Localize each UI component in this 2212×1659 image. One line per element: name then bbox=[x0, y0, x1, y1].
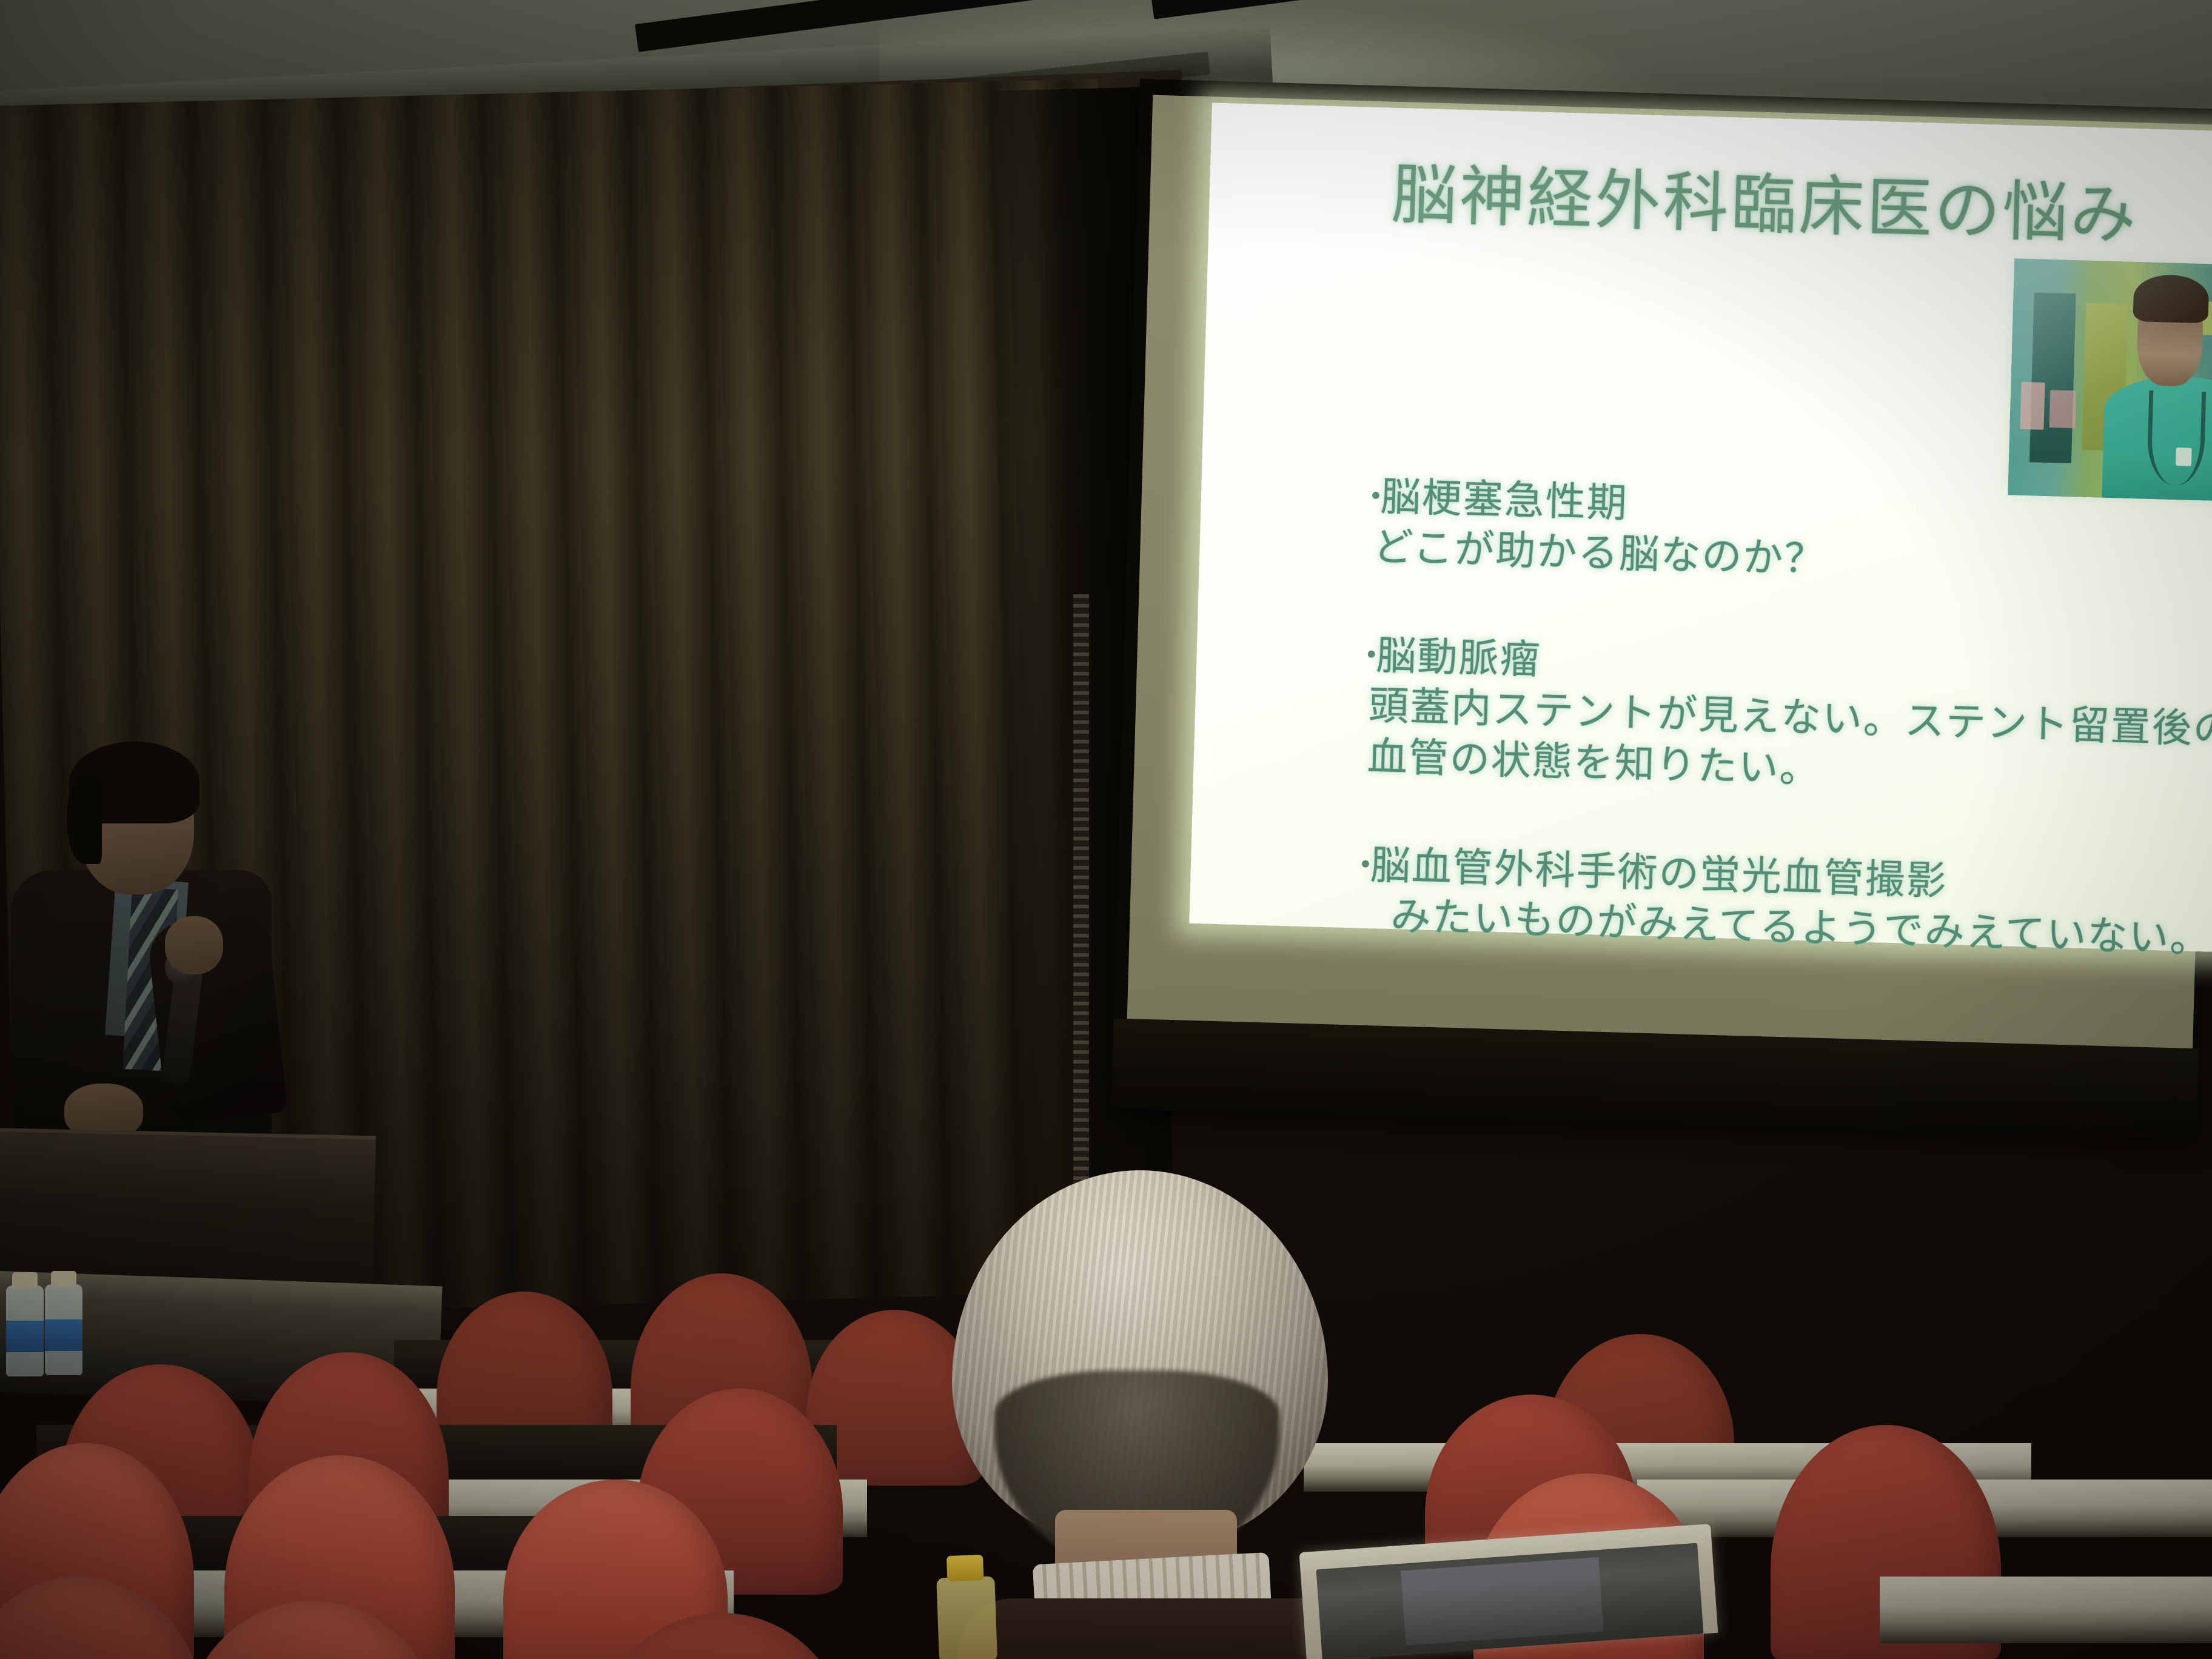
bullet-marker-icon: ・ bbox=[1354, 630, 1377, 673]
doctor-photo bbox=[2008, 258, 2212, 502]
projected-slide: 脳神経外科臨床医の悩み bbox=[1189, 102, 2212, 952]
bottle-cap bbox=[51, 1271, 76, 1287]
slide-bullet-item: ・ 脳血管外科手術の蛍光血管撮影 みたいものがみえてるようでみえていない。 bbox=[1346, 839, 2197, 964]
bullet-marker-icon: ・ bbox=[1358, 471, 1381, 514]
presenter-hair-side bbox=[67, 773, 102, 864]
curtain-track bbox=[1073, 594, 1089, 1249]
photo-glare bbox=[2008, 258, 2212, 502]
presenter-hand bbox=[165, 916, 223, 974]
desk-row-2-right bbox=[1880, 1577, 2212, 1643]
bottle-cap bbox=[12, 1272, 38, 1288]
bottle-label bbox=[45, 1319, 82, 1351]
projection-screen: 脳神経外科臨床医の悩み bbox=[1111, 79, 2212, 1139]
presenter bbox=[6, 737, 291, 1161]
water-bottle bbox=[45, 1284, 82, 1375]
slide-content: 脳神経外科臨床医の悩み bbox=[1285, 142, 2212, 752]
lecture-hall-photo: 脳神経外科臨床医の悩み bbox=[0, 0, 2212, 1659]
bottle-label bbox=[6, 1321, 44, 1352]
slide-title: 脳神経外科臨床医の悩み bbox=[1390, 163, 2139, 249]
water-bottle bbox=[6, 1285, 44, 1376]
bullet-marker-icon: ・ bbox=[1348, 839, 1371, 882]
bottle-cap bbox=[947, 1555, 984, 1581]
drink-bottle bbox=[932, 1554, 1001, 1659]
bottle-body bbox=[936, 1576, 997, 1659]
slide-bullet-item: ・ 脳動脈瘤 頭蓋内ステントが見えない。ステント留置後の 血管の状態を知りたい。 bbox=[1351, 630, 2204, 805]
slide-bullet-list: ・ 脳梗塞急性期 どこが助かる脳なのか？ ・ 脳動脈瘤 bbox=[1345, 471, 2208, 1022]
